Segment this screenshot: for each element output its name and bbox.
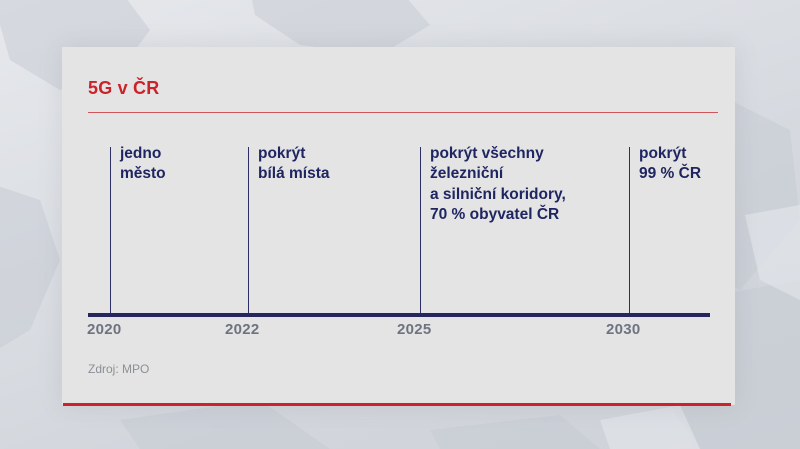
tick-line-2030 [629,147,630,315]
milestone-label-2020: jedno město [120,144,240,185]
year-label-2020: 2020 [87,321,122,338]
year-label-2030: 2030 [606,321,641,338]
tick-line-2020 [110,147,111,315]
milestone-label-2025: pokrýt všechny železniční a silniční kor… [430,144,630,226]
timeline-axis [88,313,710,317]
infographic-stage: 5G v ČR jedno město pokrýt bílá místa po… [0,0,800,449]
milestone-label-2030: pokrýt 99 % ČR [639,144,749,185]
tick-line-2025 [420,147,421,315]
year-label-2022: 2022 [225,321,260,338]
timeline-plot: jedno město pokrýt bílá místa pokrýt vše… [62,47,735,405]
tick-line-2022 [248,147,249,315]
year-label-2025: 2025 [397,321,432,338]
bottom-accent-rule [63,403,731,406]
milestone-label-2022: pokrýt bílá místa [258,144,408,185]
source-note: Zdroj: MPO [88,362,149,376]
chart-card: 5G v ČR jedno město pokrýt bílá místa po… [62,47,735,405]
